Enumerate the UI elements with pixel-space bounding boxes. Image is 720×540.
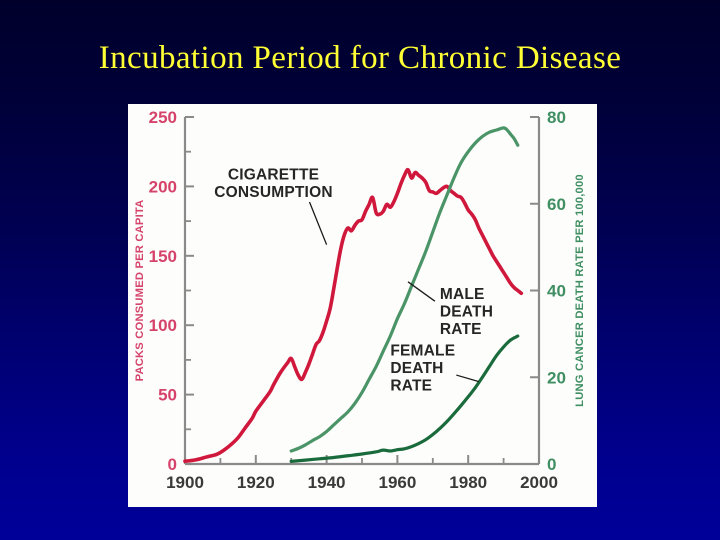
left-axis: 050100150200250PACKS CONSUMED PER CAPITA <box>134 108 194 474</box>
x-axis-tick-label: 1960 <box>378 473 416 492</box>
x-axis-tick-label: 1980 <box>449 473 487 492</box>
annotation-label: MALE <box>440 286 485 303</box>
annotation-leader-line <box>310 202 327 245</box>
right-axis-tick-label: 60 <box>547 195 566 214</box>
annotation-label: DEATH <box>390 360 443 377</box>
x-axis-tick-label: 1920 <box>237 473 275 492</box>
slide-canvas: Incubation Period for Chronic Disease 05… <box>0 0 720 540</box>
annotation-label: RATE <box>390 378 432 395</box>
annotation-label: DEATH <box>440 304 493 321</box>
left-axis-tick-label: 0 <box>168 455 177 474</box>
right-axis-title: LUNG CANCER DEATH RATE PER 100,000 <box>574 174 586 407</box>
left-axis-tick-label: 50 <box>158 386 177 405</box>
x-axis-tick-label: 2000 <box>520 473 558 492</box>
annotation-leader-line <box>408 282 435 301</box>
right-axis-tick-label: 80 <box>547 108 566 127</box>
right-axis-tick-label: 20 <box>547 368 566 387</box>
annotation-container: CIGARETTECONSUMPTIONMALEDEATHRATEFEMALED… <box>214 166 493 394</box>
left-axis-tick-label: 100 <box>149 316 177 335</box>
annotation-label: CIGARETTE <box>228 166 319 183</box>
x-axis-tick-label: 1940 <box>308 473 346 492</box>
annotation-label: RATE <box>440 321 482 338</box>
page-title: Incubation Period for Chronic Disease <box>0 40 720 77</box>
x-axis-tick-label: 1900 <box>166 473 204 492</box>
right-axis-tick-label: 0 <box>547 455 556 474</box>
x-axis: 190019201940196019802000 <box>166 455 558 492</box>
right-axis: 020406080LUNG CANCER DEATH RATE PER 100,… <box>530 108 586 474</box>
left-axis-tick-label: 150 <box>149 247 177 266</box>
annotation-label: CONSUMPTION <box>214 184 332 201</box>
left-axis-title: PACKS CONSUMED PER CAPITA <box>134 200 146 382</box>
annotation-leader-line <box>456 375 479 382</box>
chart-figure: 050100150200250PACKS CONSUMED PER CAPITA… <box>128 104 597 507</box>
annotation-label: FEMALE <box>390 343 455 360</box>
left-axis-tick-label: 200 <box>149 177 177 196</box>
right-axis-tick-label: 40 <box>547 282 566 301</box>
left-axis-tick-label: 250 <box>149 108 177 127</box>
chart-svg: 050100150200250PACKS CONSUMED PER CAPITA… <box>128 104 597 507</box>
